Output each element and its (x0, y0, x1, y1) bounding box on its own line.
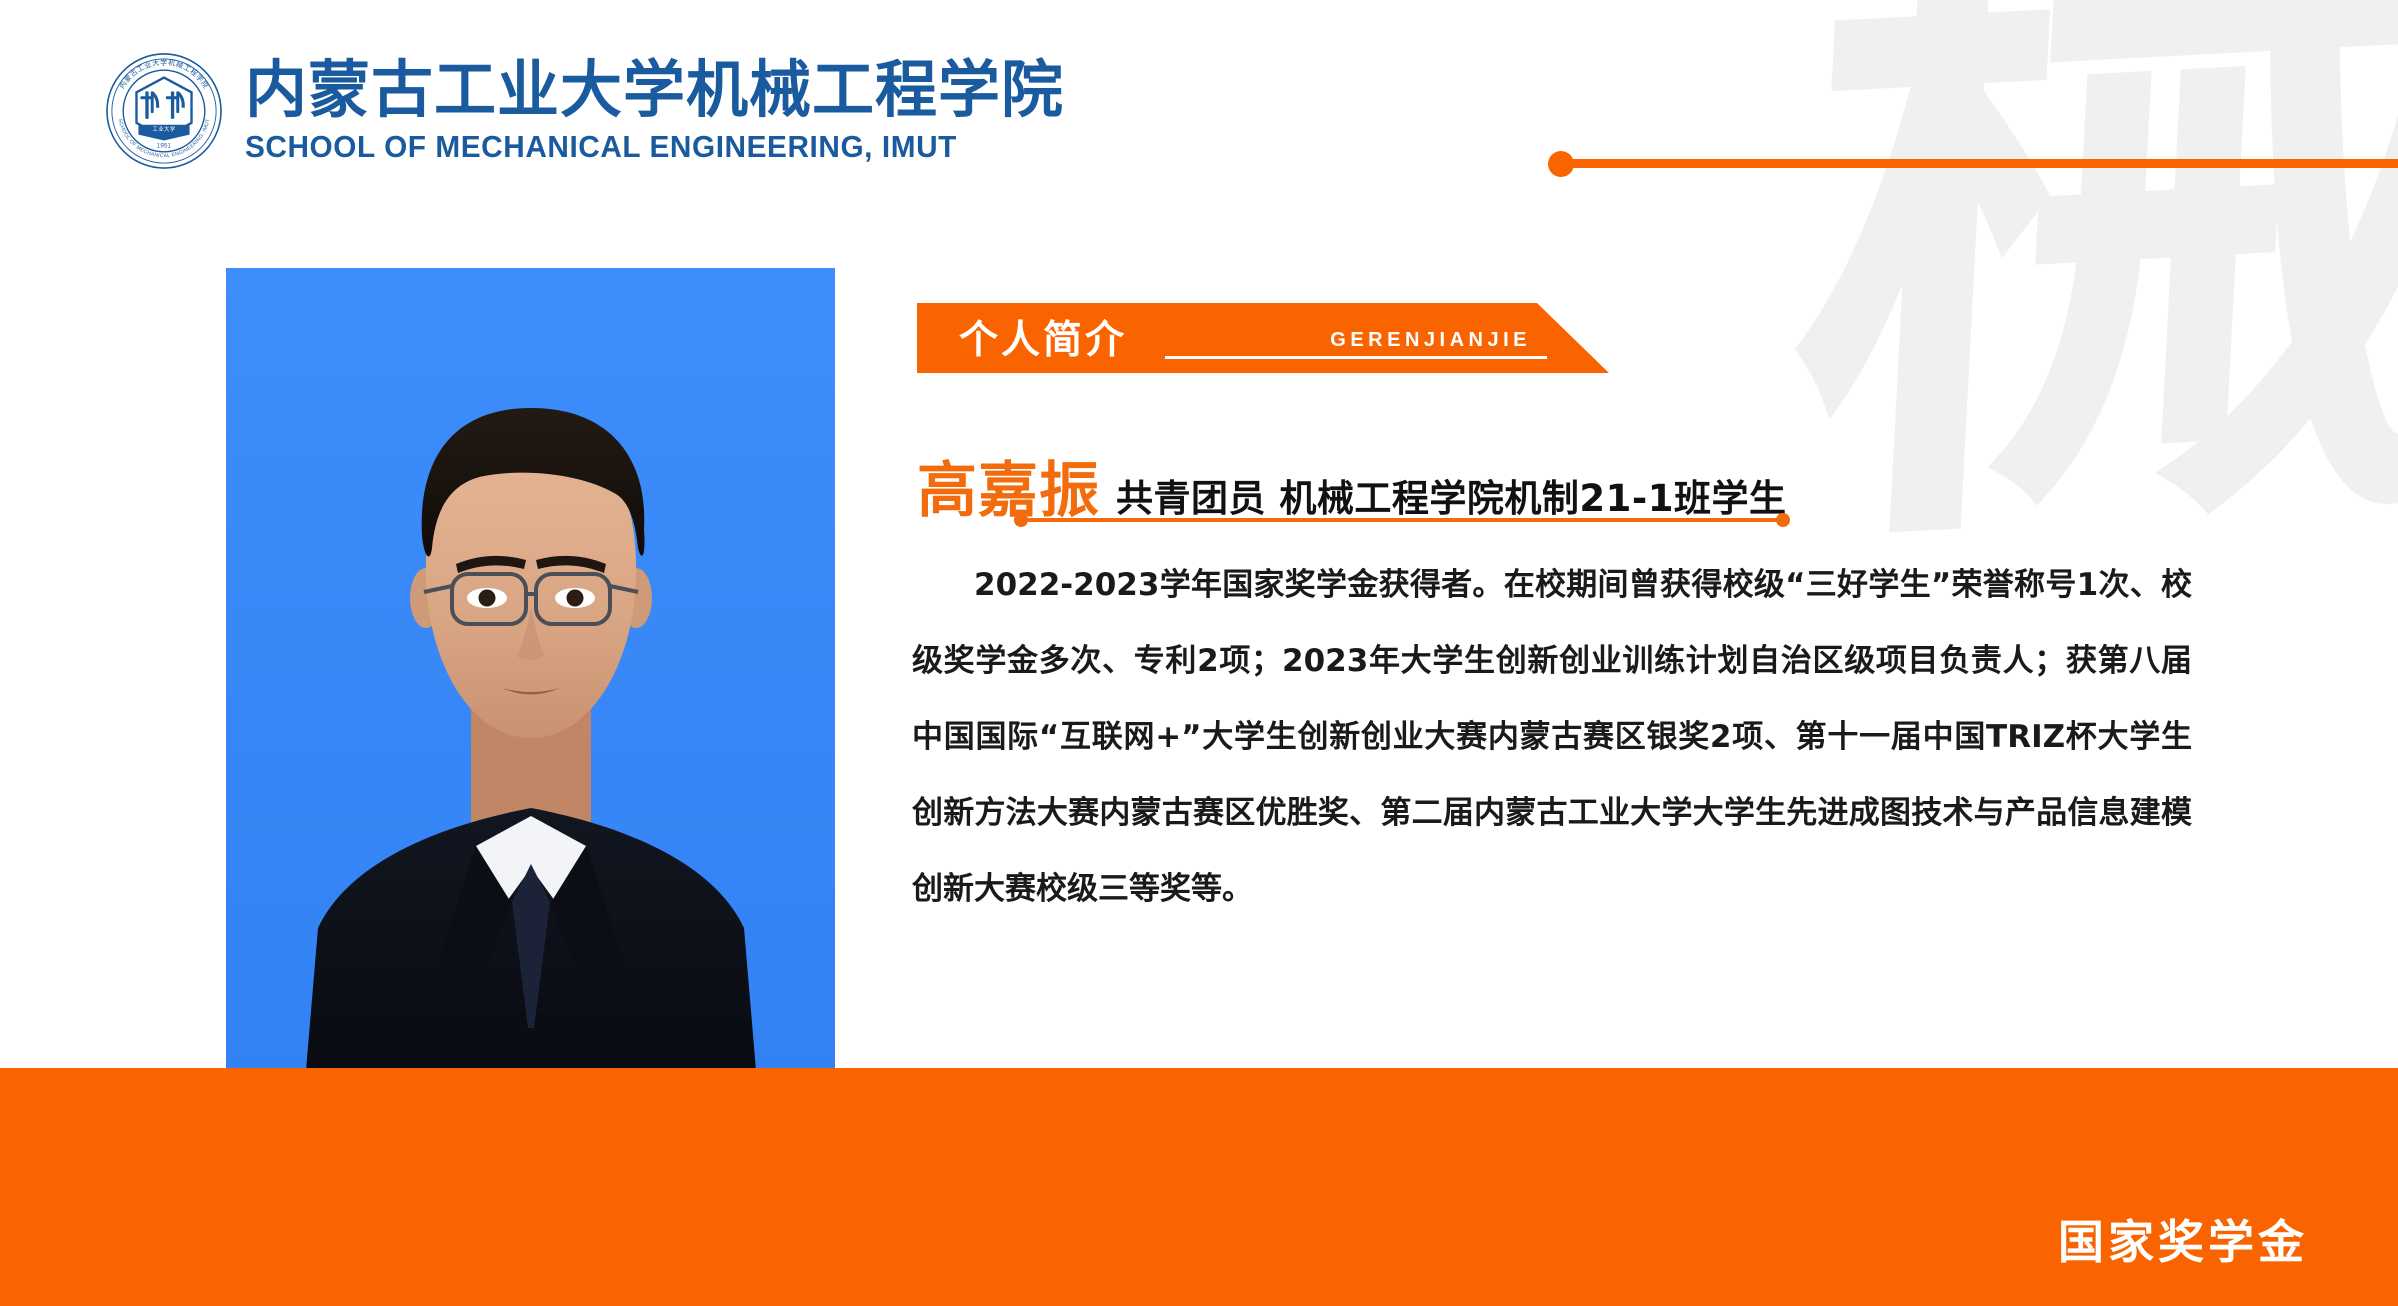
school-header: 工业大学 1951 内蒙古工业大学机械工程学院 SCHOOL OF MECHAN… (105, 52, 1064, 170)
name-underline-rule (1022, 518, 1782, 522)
bio-paragraph: 2022-2023学年国家奖学金获得者。在校期间曾获得校级“三好学生”荣誉称号1… (912, 548, 2192, 928)
person-name: 高嘉振 (917, 442, 1100, 529)
calligraphy-watermark: 械 (1773, 0, 2398, 577)
section-title: 个人简介 (959, 309, 1127, 365)
poster-root: 械 工业大学 1951 (0, 0, 2398, 1306)
svg-text:1951: 1951 (157, 142, 172, 149)
person-meta: 共青团员 机械工程学院机制21-1班学生 (1116, 468, 1786, 522)
school-name-cn: 内蒙古工业大学机械工程学院 (245, 57, 1064, 123)
school-logo-icon: 工业大学 1951 内蒙古工业大学机械工程学院 SCHOOL OF MECHAN… (105, 52, 223, 170)
top-accent-rule (1560, 159, 2398, 168)
banner-underline (1165, 356, 1547, 359)
svg-text:内蒙古工业大学机械工程学院: 内蒙古工业大学机械工程学院 (117, 58, 211, 90)
svg-text:工业大学: 工业大学 (152, 125, 175, 133)
school-title-block: 内蒙古工业大学机械工程学院 SCHOOL OF MECHANICAL ENGIN… (245, 57, 1064, 165)
footer-band: 国家奖学金 (0, 1068, 2398, 1306)
portrait-photo (226, 268, 835, 1165)
section-banner: 个人简介 GERENJIANJIE (917, 303, 1609, 373)
footer-caption: 国家奖学金 (2058, 1206, 2308, 1272)
section-pinyin: GERENJIANJIE (1330, 329, 1531, 352)
profile-name-row: 高嘉振 共青团员 机械工程学院机制21-1班学生 (917, 442, 1786, 529)
school-name-en: SCHOOL OF MECHANICAL ENGINEERING, IMUT (245, 129, 1031, 165)
name-rule-dot-right (1776, 513, 1790, 527)
